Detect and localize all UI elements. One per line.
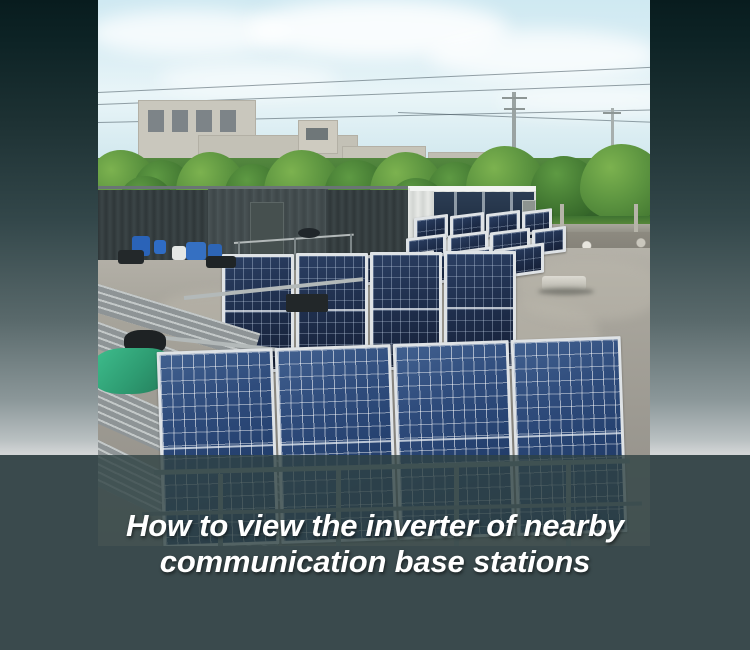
shed-door: [250, 202, 284, 262]
black-crate-2: [206, 256, 236, 268]
blue-drum-2: [154, 240, 166, 254]
utility-pole-arm-1: [502, 97, 527, 99]
utility-pole-far-arm: [603, 112, 621, 114]
factory-window-1: [148, 110, 164, 132]
panel-midbar: [225, 310, 291, 312]
factory-window-3: [196, 110, 212, 132]
caption-title: How to view the inverter of nearby commu…: [0, 508, 750, 580]
yard-pallet-shadow: [538, 288, 594, 295]
factory-window-2: [172, 110, 188, 132]
black-crate-3: [286, 294, 328, 312]
black-crate-1: [118, 250, 144, 264]
white-drum: [172, 246, 186, 260]
utility-pole-arm-2: [504, 108, 525, 110]
factory-window-4: [220, 110, 236, 132]
shed-roofline: [98, 186, 434, 189]
fence-post-6: [634, 204, 638, 232]
blue-drum-3: [186, 242, 206, 260]
panel-midbar: [373, 308, 439, 310]
panel-midbar: [447, 307, 513, 309]
screenshot-root: How to view the inverter of nearby commu…: [0, 0, 750, 650]
container-top-rail: [410, 186, 536, 191]
photo-solar-panel-installation: [98, 0, 650, 546]
black-object-yard: [298, 228, 320, 238]
cloud-4: [158, 62, 338, 96]
factory-tower-window: [306, 128, 328, 140]
